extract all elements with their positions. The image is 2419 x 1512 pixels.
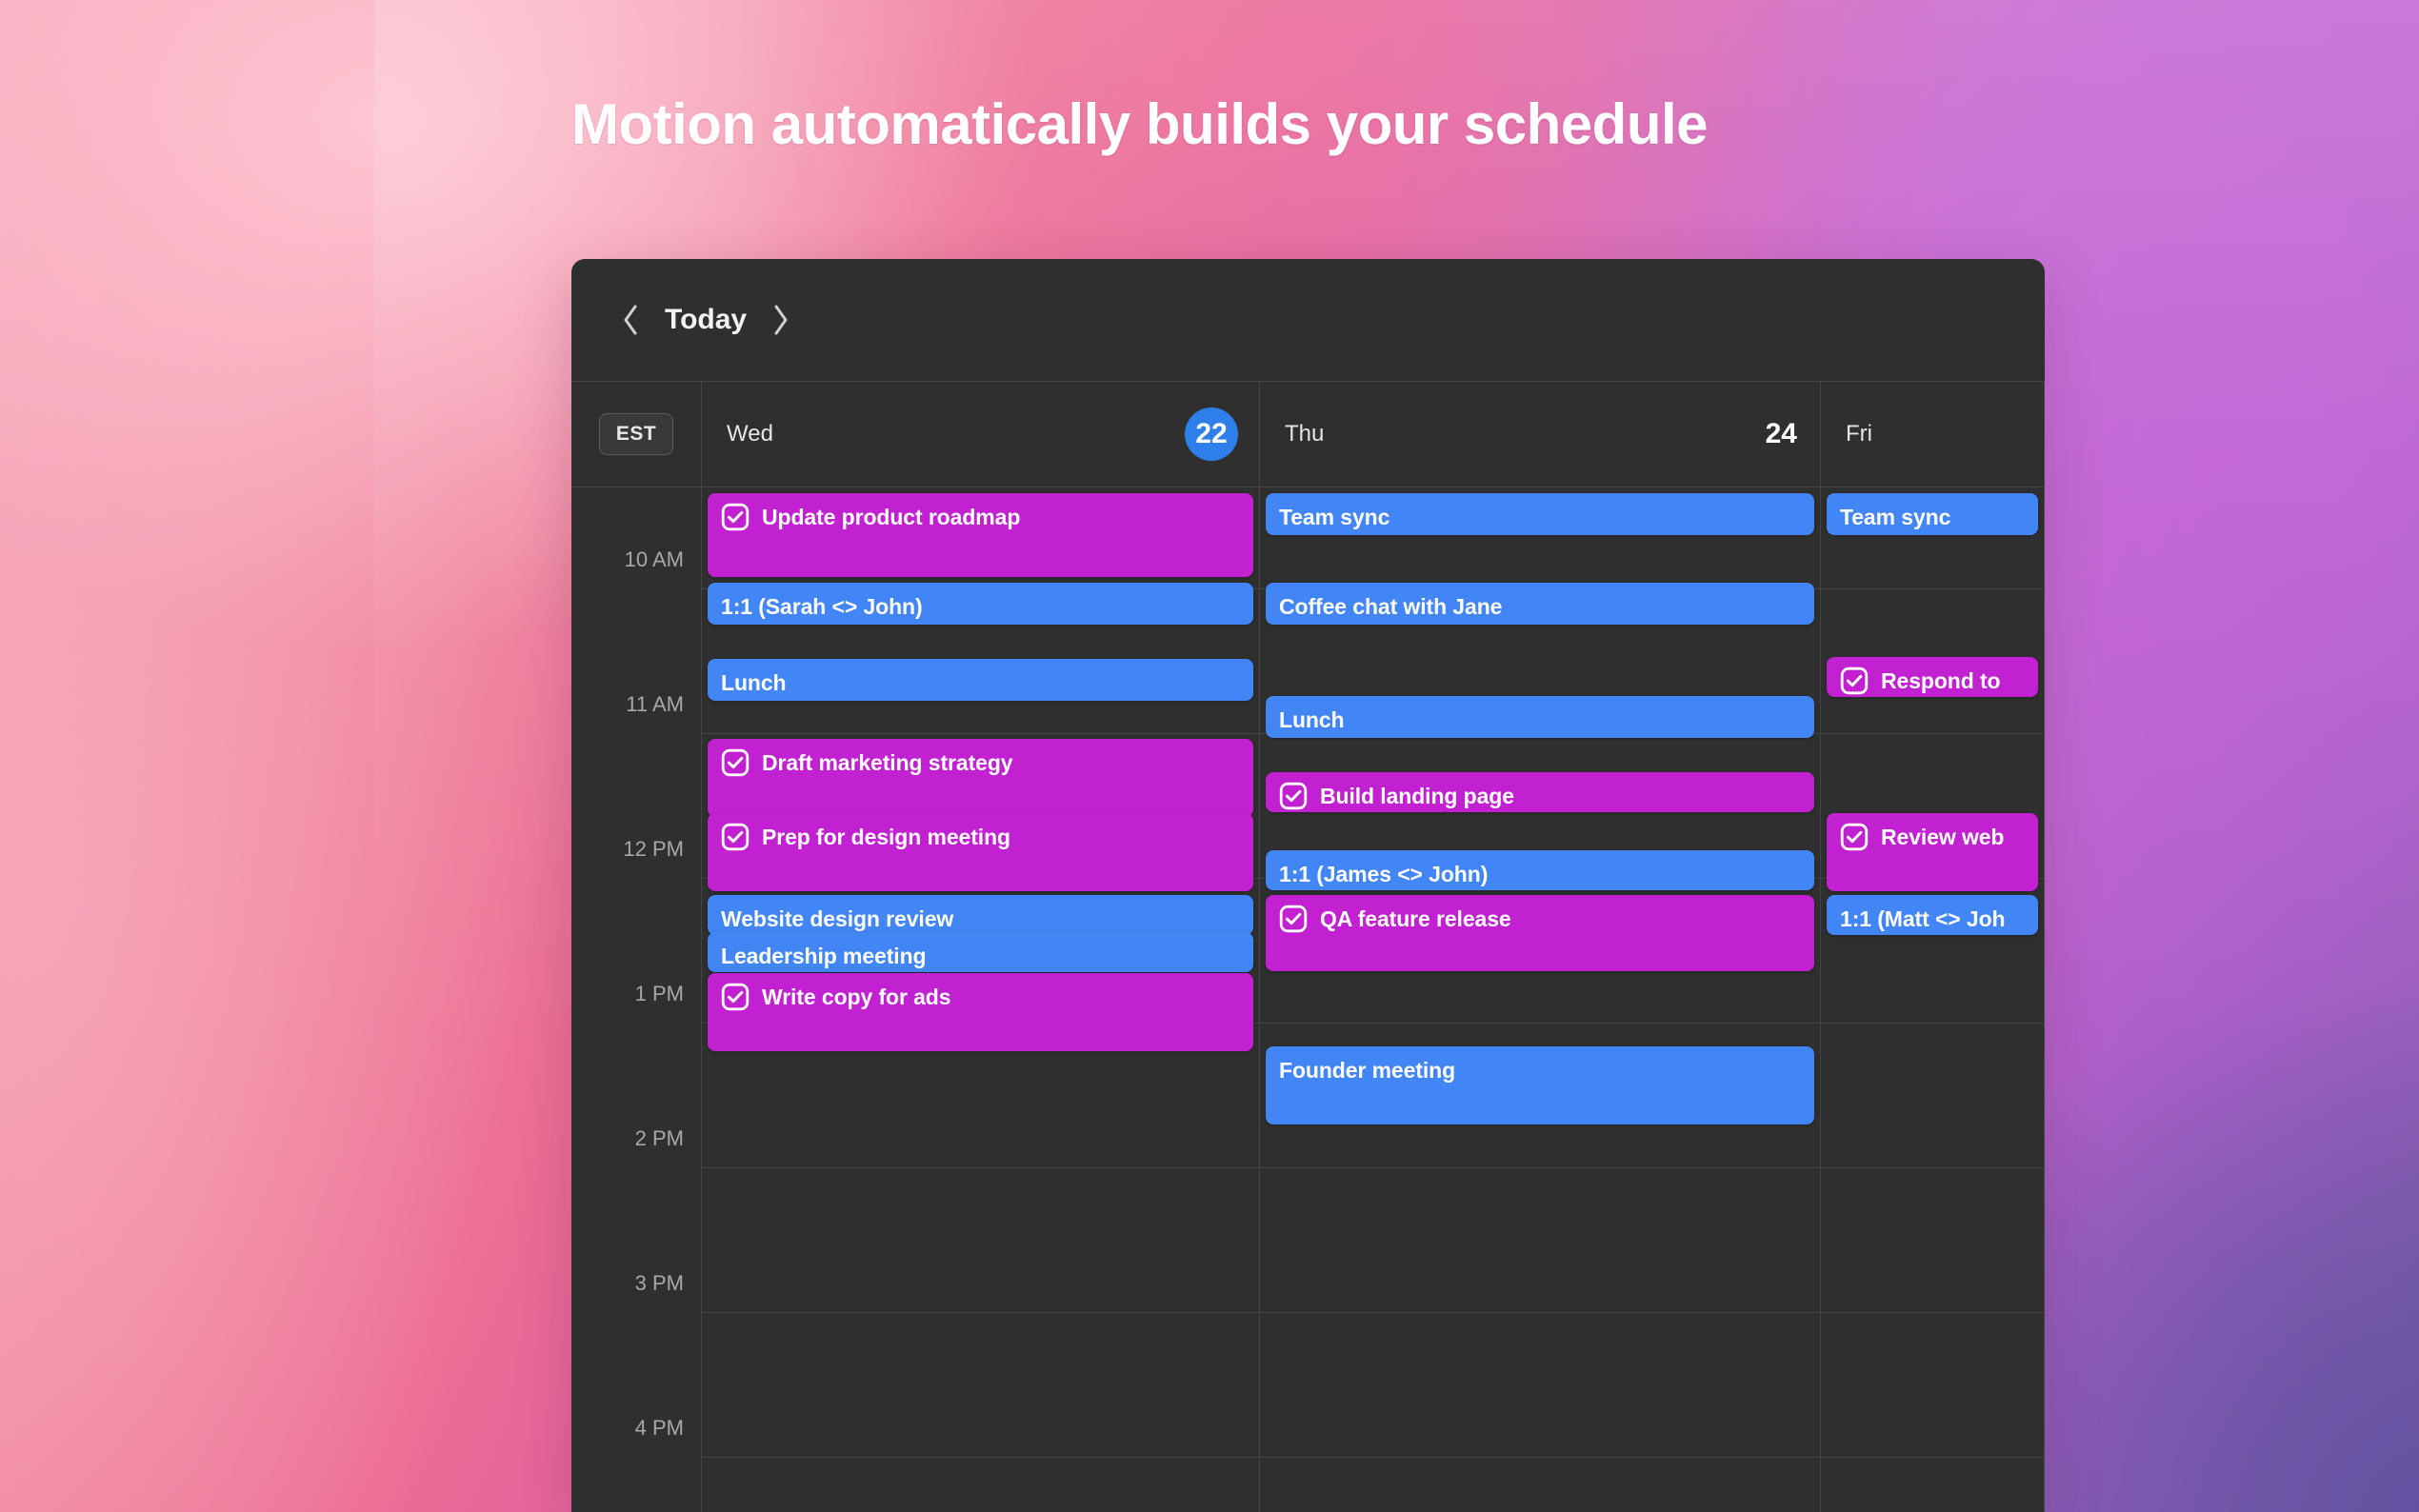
event-title: Draft marketing strategy (762, 749, 1012, 777)
hour-gridline (1821, 733, 2044, 734)
hour-label: 2 PM (635, 1126, 684, 1151)
task-event-block[interactable]: Update product roadmap (708, 493, 1253, 577)
task-event-block[interactable]: Review web (1827, 813, 2038, 891)
calendar-grid: 10 AM11 AM12 PM1 PM2 PM3 PM4 PM5 PM Upda… (571, 487, 2045, 1512)
meeting-event-block[interactable]: 1:1 (James <> John) (1266, 850, 1814, 890)
day-of-week-label: Thu (1285, 421, 1324, 448)
page-title: Motion automatically builds your schedul… (571, 91, 1708, 157)
event-title: Prep for design meeting (762, 824, 1010, 851)
checkbox-checked-icon[interactable] (721, 823, 750, 851)
checkbox-checked-icon[interactable] (1840, 823, 1869, 851)
hour-gridline (1821, 1457, 2044, 1458)
task-event-block[interactable]: Write copy for ads (708, 973, 1253, 1051)
event-title: Write copy for ads (762, 984, 950, 1011)
meeting-event-block[interactable]: 1:1 (Matt <> Joh (1827, 895, 2038, 935)
today-button[interactable]: Today (655, 304, 756, 336)
event-title: 1:1 (James <> John) (1279, 861, 1488, 888)
calendar-panel: Today EST Wed22Thu24Fri 10 AM11 AM12 PM1… (571, 259, 2045, 1512)
checkbox-checked-icon[interactable] (721, 748, 750, 777)
chevron-right-icon[interactable] (762, 301, 800, 339)
event-title: 1:1 (Matt <> Joh (1840, 905, 2006, 933)
day-header-wed[interactable]: Wed22 (702, 382, 1260, 487)
hour-gridline (702, 1312, 1259, 1313)
meeting-event-block[interactable]: Website design review (708, 895, 1253, 935)
event-title: 1:1 (Sarah <> John) (721, 593, 923, 621)
day-of-week-label: Fri (1846, 421, 1872, 448)
task-event-block[interactable]: Build landing page (1266, 772, 1814, 812)
time-gutter: 10 AM11 AM12 PM1 PM2 PM3 PM4 PM5 PM (571, 487, 702, 1512)
event-title: Team sync (1840, 504, 1950, 531)
checkbox-checked-icon[interactable] (1840, 666, 1869, 695)
hour-gridline (1821, 1312, 2044, 1313)
hour-gridline (1260, 1023, 1820, 1024)
day-column-thu[interactable]: Team syncCoffee chat with JaneLunchBuild… (1260, 487, 1821, 1512)
hour-label: 1 PM (635, 982, 684, 1006)
day-header-thu[interactable]: Thu24 (1260, 382, 1821, 487)
event-title: Team sync (1279, 504, 1389, 531)
meeting-event-block[interactable]: Leadership meeting (708, 932, 1253, 972)
task-event-block[interactable]: Respond to (1827, 657, 2038, 697)
task-event-block[interactable]: Draft marketing strategy (708, 739, 1253, 817)
event-title: QA feature release (1320, 905, 1511, 933)
hour-label: 4 PM (635, 1416, 684, 1441)
hour-label: 11 AM (626, 692, 684, 717)
timezone-badge[interactable]: EST (599, 413, 673, 455)
day-date-number: 24 (1766, 418, 1797, 450)
event-title: Lunch (1279, 706, 1345, 734)
hour-gridline (1821, 588, 2044, 589)
event-title: Respond to (1881, 667, 2001, 695)
day-header-fri[interactable]: Fri (1821, 382, 2045, 487)
calendar-toolbar: Today (571, 259, 2045, 381)
hour-gridline (702, 733, 1259, 734)
day-column-fri[interactable]: Team syncRespond toReview web1:1 (Matt <… (1821, 487, 2045, 1512)
checkbox-checked-icon[interactable] (1279, 905, 1308, 933)
checkbox-checked-icon[interactable] (721, 503, 750, 531)
calendar-day-header: EST Wed22Thu24Fri (571, 381, 2045, 487)
meeting-event-block[interactable]: Lunch (1266, 696, 1814, 738)
day-of-week-label: Wed (727, 421, 773, 448)
hour-label: 3 PM (635, 1271, 684, 1296)
event-title: Review web (1881, 824, 2004, 851)
event-title: Coffee chat with Jane (1279, 593, 1502, 621)
chevron-left-icon[interactable] (611, 301, 650, 339)
event-title: Leadership meeting (721, 943, 926, 970)
event-title: Founder meeting (1279, 1057, 1455, 1084)
hour-gridline (1260, 1312, 1820, 1313)
meeting-event-block[interactable]: 1:1 (Sarah <> John) (708, 583, 1253, 625)
hour-gridline (1821, 1167, 2044, 1168)
hour-gridline (1260, 1167, 1820, 1168)
meeting-event-block[interactable]: Lunch (708, 659, 1253, 701)
event-title: Lunch (721, 669, 787, 697)
hour-gridline (702, 1457, 1259, 1458)
task-event-block[interactable]: Prep for design meeting (708, 813, 1253, 891)
meeting-event-block[interactable]: Team sync (1827, 493, 2038, 535)
event-title: Build landing page (1320, 783, 1514, 810)
hour-gridline (702, 1167, 1259, 1168)
hour-gridline (1821, 1023, 2044, 1024)
event-title: Website design review (721, 905, 953, 933)
meeting-event-block[interactable]: Team sync (1266, 493, 1814, 535)
meeting-event-block[interactable]: Founder meeting (1266, 1046, 1814, 1124)
checkbox-checked-icon[interactable] (1279, 782, 1308, 810)
timezone-cell: EST (571, 382, 702, 487)
hour-label: 12 PM (623, 837, 684, 862)
hour-label: 10 AM (625, 547, 684, 572)
today-date-pill: 22 (1185, 408, 1238, 461)
event-title: Update product roadmap (762, 504, 1020, 531)
hour-gridline (1260, 1457, 1820, 1458)
checkbox-checked-icon[interactable] (721, 983, 750, 1011)
day-column-wed[interactable]: Update product roadmap1:1 (Sarah <> John… (702, 487, 1260, 1512)
meeting-event-block[interactable]: Coffee chat with Jane (1266, 583, 1814, 625)
task-event-block[interactable]: QA feature release (1266, 895, 1814, 971)
